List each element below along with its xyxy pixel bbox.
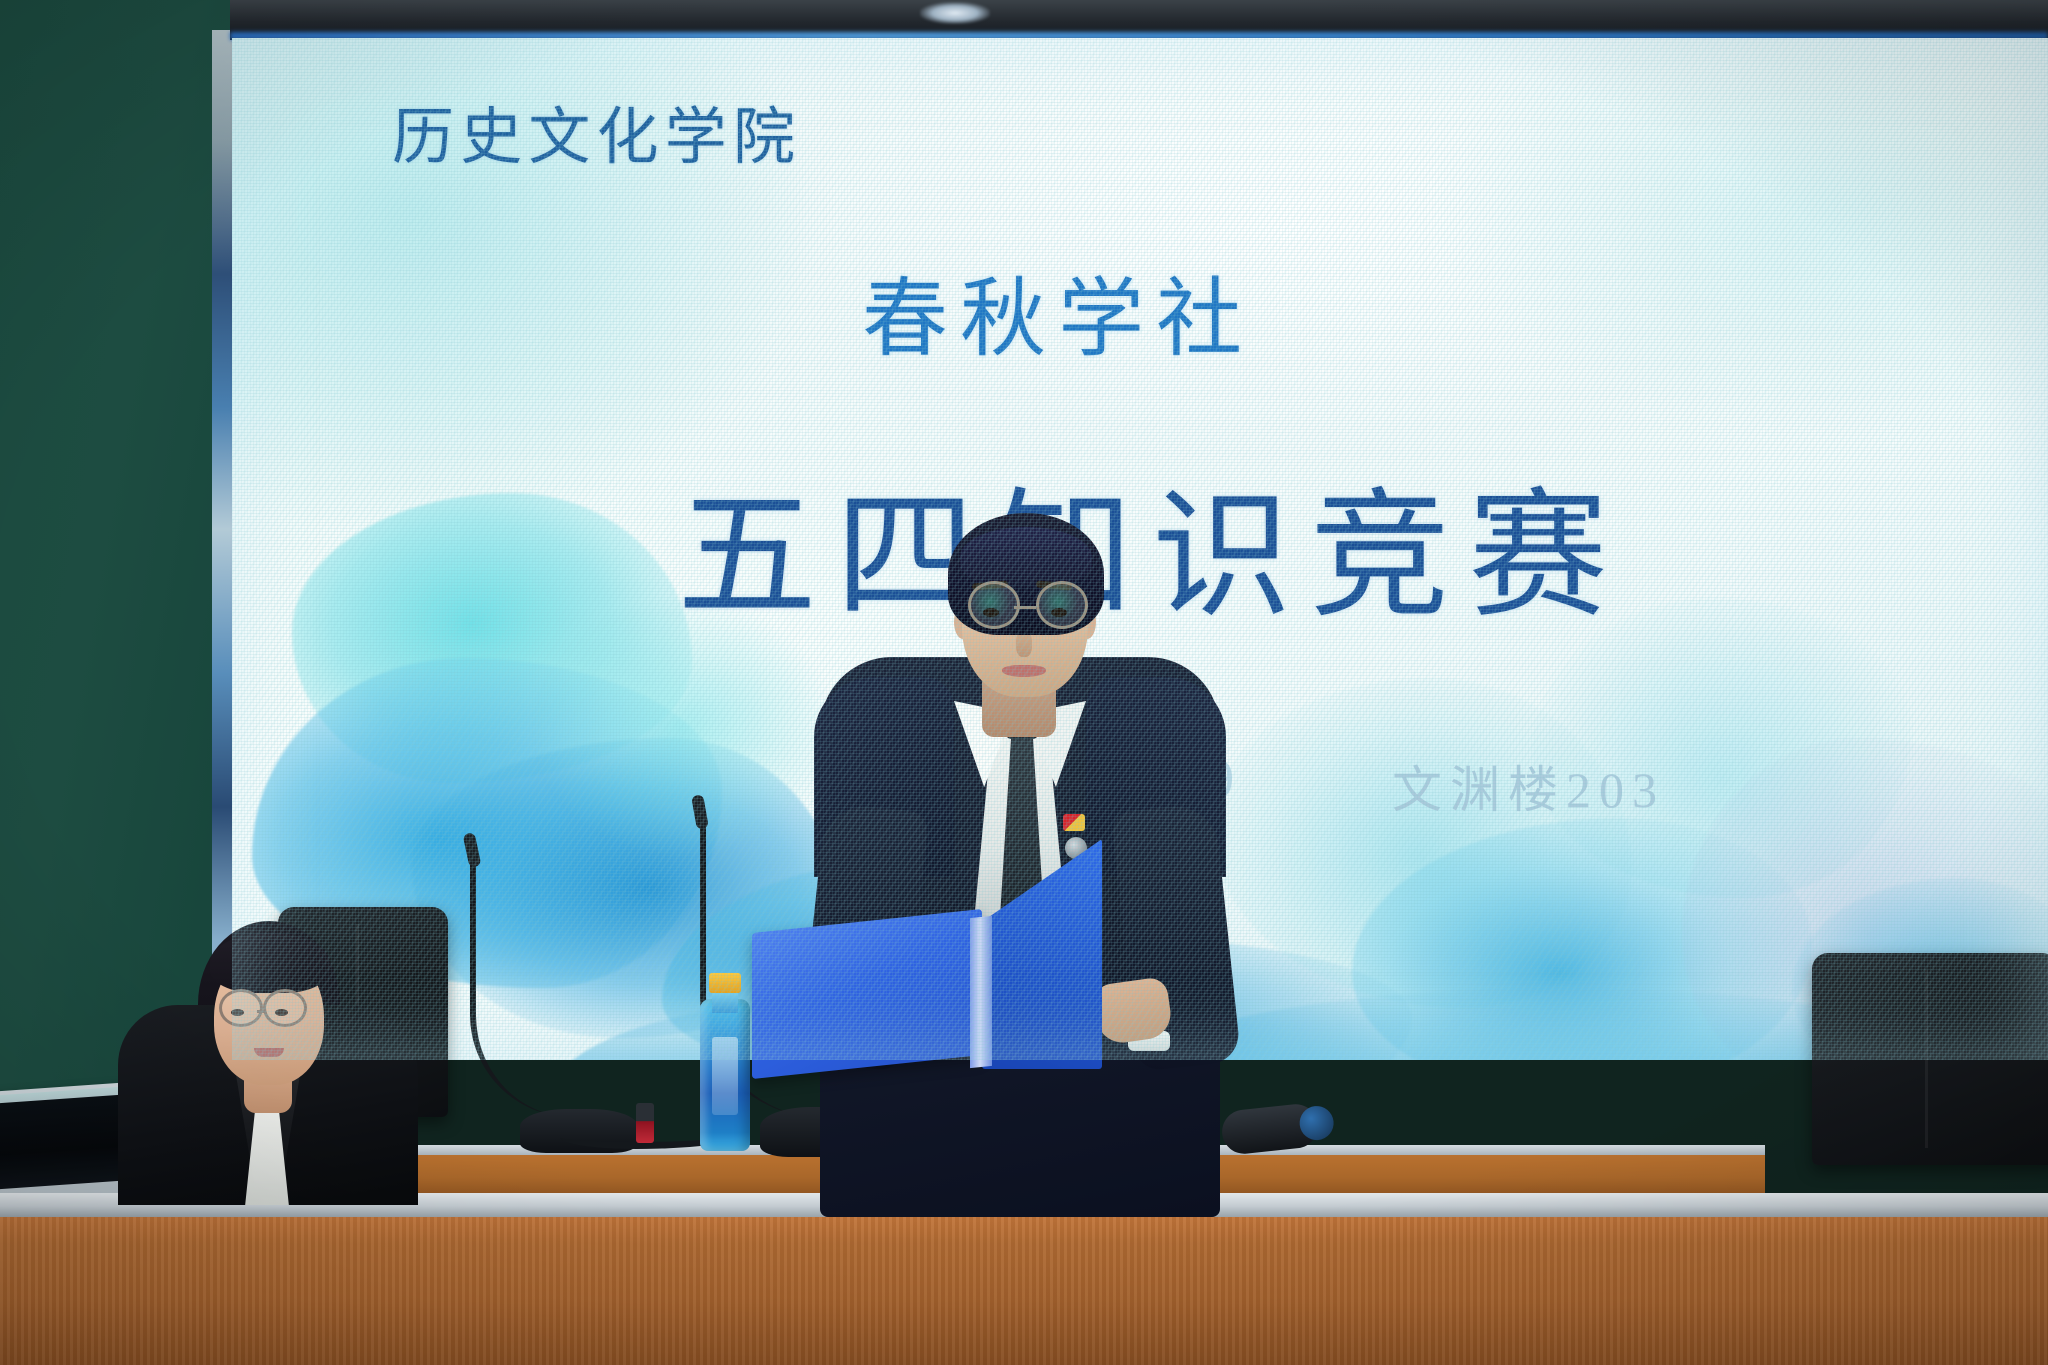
- ceiling-light: [920, 2, 990, 24]
- office-chair-right: [1812, 953, 2048, 1165]
- host-mouth: [254, 1048, 284, 1057]
- speaker-eye: [1051, 608, 1067, 617]
- slide-society: 春秋学社: [862, 248, 1254, 373]
- usb-drive: [636, 1103, 654, 1143]
- speaker-fringe: [960, 527, 1092, 587]
- eyeglasses-icon: [968, 581, 1020, 629]
- gooseneck-mic-left: [470, 855, 572, 1117]
- eyeglasses-icon: [219, 989, 263, 1027]
- conference-desk: [0, 1217, 2048, 1365]
- speaker-eye: [983, 608, 999, 617]
- standing-speaker: [820, 387, 1220, 1217]
- folder-spine: [970, 916, 992, 1068]
- slide-organization: 历史文化学院: [392, 86, 801, 176]
- bottle-label: [712, 1037, 738, 1115]
- eyeglass-bridge: [1014, 606, 1036, 609]
- host-fringe: [210, 933, 330, 993]
- seated-host: [118, 845, 418, 1205]
- slide-venue: 文渊楼203: [1392, 750, 1665, 822]
- bottle-cap: [709, 973, 741, 993]
- eyeglasses-icon: [263, 989, 307, 1027]
- wash-top-right: [1428, 38, 2048, 438]
- ceiling-band: [230, 0, 2048, 40]
- bottle-neck: [712, 991, 738, 1013]
- presentation-folder: [752, 909, 982, 1079]
- eyeglass-bridge: [257, 1010, 265, 1013]
- photo-scene: 历史文化学院 春秋学社 五四知识竞赛 5.29 文渊楼203: [0, 0, 2048, 1365]
- speaker-mouth: [1002, 665, 1046, 677]
- eyeglasses-icon: [1036, 581, 1088, 629]
- party-emblem-pin-icon: [1063, 814, 1085, 831]
